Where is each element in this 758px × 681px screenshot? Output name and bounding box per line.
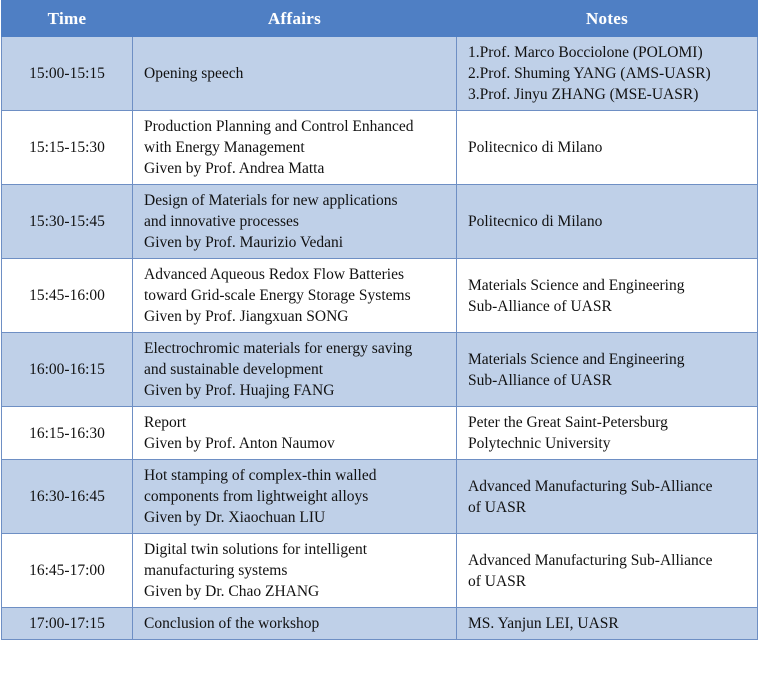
cell-time: 16:15-16:30 (2, 407, 133, 460)
header-row: Time Affairs Notes (2, 1, 758, 37)
notes-line: Sub-Alliance of UASR (468, 296, 751, 317)
cell-affairs: Opening speech (133, 37, 457, 111)
cell-notes: Advanced Manufacturing Sub-Allianceof UA… (457, 534, 758, 608)
schedule-container: Time Affairs Notes 15:00-15:15Opening sp… (0, 0, 758, 681)
cell-affairs: Digital twin solutions for intelligentma… (133, 534, 457, 608)
table-row: 15:15-15:30Production Planning and Contr… (2, 111, 758, 185)
notes-line: Polytechnic University (468, 433, 751, 454)
table-row: 15:45-16:00Advanced Aqueous Redox Flow B… (2, 259, 758, 333)
notes-line: 2.Prof. Shuming YANG (AMS-UASR) (468, 63, 751, 84)
affairs-line: with Energy Management (144, 137, 450, 158)
cell-affairs: Production Planning and Control Enhanced… (133, 111, 457, 185)
notes-line: Advanced Manufacturing Sub-Alliance (468, 550, 751, 571)
cell-time: 17:00-17:15 (2, 608, 133, 640)
notes-line: MS. Yanjun LEI, UASR (468, 613, 751, 634)
affairs-line: Given by Dr. Chao ZHANG (144, 581, 450, 602)
affairs-line: components from lightweight alloys (144, 486, 450, 507)
cell-notes: MS. Yanjun LEI, UASR (457, 608, 758, 640)
affairs-line: Production Planning and Control Enhanced (144, 116, 450, 137)
cell-time: 16:30-16:45 (2, 460, 133, 534)
cell-time: 15:45-16:00 (2, 259, 133, 333)
notes-line: Politecnico di Milano (468, 137, 751, 158)
cell-time: 15:30-15:45 (2, 185, 133, 259)
notes-line: of UASR (468, 497, 751, 518)
notes-line: Materials Science and Engineering (468, 349, 751, 370)
affairs-line: Given by Prof. Jiangxuan SONG (144, 306, 450, 327)
cell-affairs: Advanced Aqueous Redox Flow Batteriestow… (133, 259, 457, 333)
table-header: Time Affairs Notes (2, 1, 758, 37)
affairs-line: Hot stamping of complex-thin walled (144, 465, 450, 486)
column-header-time: Time (2, 1, 133, 37)
affairs-line: and sustainable development (144, 359, 450, 380)
affairs-line: and innovative processes (144, 211, 450, 232)
notes-line: Materials Science and Engineering (468, 275, 751, 296)
cell-notes: Materials Science and EngineeringSub-All… (457, 259, 758, 333)
affairs-line: Conclusion of the workshop (144, 613, 450, 634)
cell-affairs: ReportGiven by Prof. Anton Naumov (133, 407, 457, 460)
table-body: 15:00-15:15Opening speech1.Prof. Marco B… (2, 37, 758, 640)
workshop-schedule-table: Time Affairs Notes 15:00-15:15Opening sp… (1, 0, 758, 640)
affairs-line: Opening speech (144, 63, 450, 84)
table-row: 15:30-15:45Design of Materials for new a… (2, 185, 758, 259)
table-row: 15:00-15:15Opening speech1.Prof. Marco B… (2, 37, 758, 111)
notes-line: Peter the Great Saint-Petersburg (468, 412, 751, 433)
affairs-line: Digital twin solutions for intelligent (144, 539, 450, 560)
cell-time: 15:00-15:15 (2, 37, 133, 111)
table-row: 16:00-16:15Electrochromic materials for … (2, 333, 758, 407)
cell-time: 16:45-17:00 (2, 534, 133, 608)
affairs-line: Given by Prof. Maurizio Vedani (144, 232, 450, 253)
cell-time: 15:15-15:30 (2, 111, 133, 185)
cell-affairs: Conclusion of the workshop (133, 608, 457, 640)
affairs-line: Advanced Aqueous Redox Flow Batteries (144, 264, 450, 285)
table-row: 16:45-17:00Digital twin solutions for in… (2, 534, 758, 608)
notes-line: Sub-Alliance of UASR (468, 370, 751, 391)
cell-notes: Politecnico di Milano (457, 185, 758, 259)
affairs-line: toward Grid-scale Energy Storage Systems (144, 285, 450, 306)
affairs-line: Electrochromic materials for energy savi… (144, 338, 450, 359)
cell-notes: Peter the Great Saint-PetersburgPolytech… (457, 407, 758, 460)
cell-notes: Politecnico di Milano (457, 111, 758, 185)
cell-notes: Advanced Manufacturing Sub-Allianceof UA… (457, 460, 758, 534)
notes-line: 3.Prof. Jinyu ZHANG (MSE-UASR) (468, 84, 751, 105)
cell-time: 16:00-16:15 (2, 333, 133, 407)
cell-notes: 1.Prof. Marco Bocciolone (POLOMI)2.Prof.… (457, 37, 758, 111)
table-row: 16:15-16:30ReportGiven by Prof. Anton Na… (2, 407, 758, 460)
affairs-line: Given by Dr. Xiaochuan LIU (144, 507, 450, 528)
cell-affairs: Electrochromic materials for energy savi… (133, 333, 457, 407)
affairs-line: Report (144, 412, 450, 433)
column-header-affairs: Affairs (133, 1, 457, 37)
affairs-line: manufacturing systems (144, 560, 450, 581)
table-row: 16:30-16:45Hot stamping of complex-thin … (2, 460, 758, 534)
cell-affairs: Hot stamping of complex-thin walledcompo… (133, 460, 457, 534)
table-row: 17:00-17:15Conclusion of the workshopMS.… (2, 608, 758, 640)
notes-line: Advanced Manufacturing Sub-Alliance (468, 476, 751, 497)
affairs-line: Given by Prof. Andrea Matta (144, 158, 450, 179)
affairs-line: Given by Prof. Anton Naumov (144, 433, 450, 454)
notes-line: 1.Prof. Marco Bocciolone (POLOMI) (468, 42, 751, 63)
cell-notes: Materials Science and EngineeringSub-All… (457, 333, 758, 407)
affairs-line: Given by Prof. Huajing FANG (144, 380, 450, 401)
notes-line: Politecnico di Milano (468, 211, 751, 232)
affairs-line: Design of Materials for new applications (144, 190, 450, 211)
notes-line: of UASR (468, 571, 751, 592)
column-header-notes: Notes (457, 1, 758, 37)
cell-affairs: Design of Materials for new applications… (133, 185, 457, 259)
